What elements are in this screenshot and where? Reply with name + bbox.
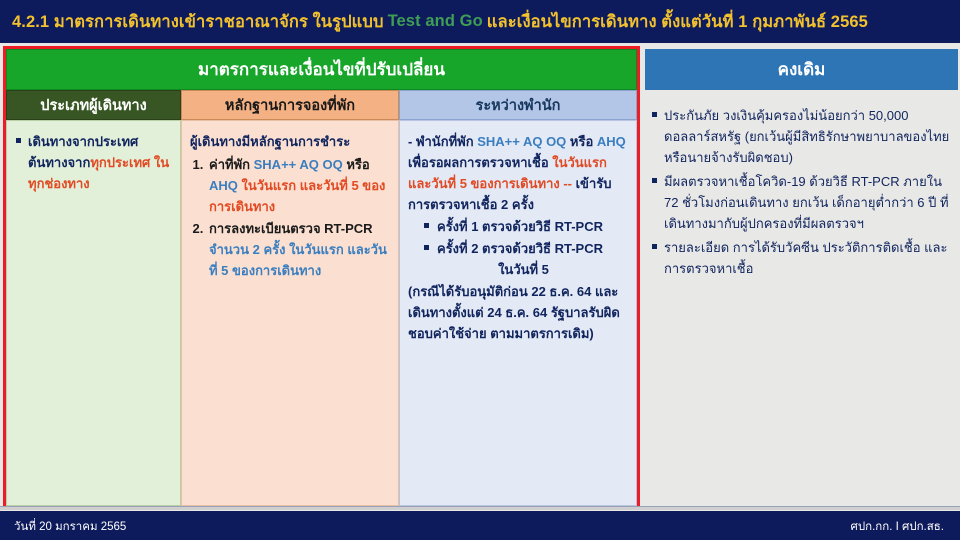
column-body-traveler-type: เดินทางจากประเทศ ต้นทางจากทุกประเทศ ในทุ… (6, 120, 181, 506)
during-stay-sub-list: ครั้งที่ 1 ตรวจด้วยวิธี RT-PCR ครั้งที่ … (408, 216, 628, 280)
unchanged-measures-body: ประกันภัย วงเงินคุ้มครองไม่น้อยกว่า 50,0… (645, 95, 958, 495)
list-item: การลงทะเบียนตรวจ RT-PCR จำนวน 2 ครั้ง ใน… (207, 218, 390, 281)
seg-rtpcr-registration: การลงทะเบียนตรวจ RT-PCR (209, 221, 373, 236)
seg-ahq: AHQ (209, 178, 242, 193)
seg-accommodation-cost: ค่าที่พัก (209, 157, 254, 172)
page-title-prefix: 4.2.1 มาตรการเดินทางเข้าราชอาณาจักร ในรู… (12, 9, 384, 35)
footer-divider (0, 506, 960, 510)
page-title-suffix: และเงื่อนไขการเดินทาง ตั้งแต่วันที่ 1 กุ… (487, 9, 868, 35)
seg-two-times: จำนวน 2 ครั้ง ในวันแรก และวันที่ 5 ของกา… (209, 242, 387, 278)
footer-source: ศปก.กก. I ศปก.สธ. (851, 518, 944, 536)
seg-sha-aq-oq: SHA++ AQ OQ (254, 157, 347, 172)
seg-or: หรือ (570, 134, 597, 149)
during-stay-note: (กรณีได้รับอนุมัติก่อน 22 ธ.ค. 64 และเดิ… (408, 281, 628, 344)
unchanged-measures-list: ประกันภัย วงเงินคุ้มครองไม่น้อยกว่า 50,0… (651, 105, 952, 279)
sub-bullet-2-note: ในวันที่ 5 (437, 259, 628, 280)
unchanged-measures-banner: คงเดิม (645, 49, 958, 90)
list-item: ประกันภัย วงเงินคุ้มครองไม่น้อยกว่า 50,0… (651, 105, 952, 168)
page-title-highlight: Test and Go (384, 12, 487, 31)
list-item: เดินทางจากประเทศ ต้นทางจากทุกประเทศ ในทุ… (15, 131, 172, 194)
traveler-type-list: เดินทางจากประเทศ ต้นทางจากทุกประเทศ ในทุ… (15, 131, 172, 194)
sub-bullet-2-text: ครั้งที่ 2 ตรวจด้วยวิธี RT-PCR (437, 241, 603, 256)
seg-ahq: AHQ (597, 134, 626, 149)
booking-proof-list: ค่าที่พัก SHA++ AQ OQ หรือ AHQ ในวันแรก … (190, 154, 390, 281)
footer-bar: วันที่ 20 มกราคม 2565 ศปก.กก. I ศปก.สธ. (0, 511, 960, 540)
list-item: ครั้งที่ 1 ตรวจด้วยวิธี RT-PCR (424, 216, 628, 237)
seg-origin: ต้นทางจาก (28, 155, 90, 170)
column-body-during-stay: - พำนักที่พัก SHA++ AQ OQ หรือ AHQ เพื่อ… (399, 120, 637, 506)
list-item: มีผลตรวจหาเชื้อโควิด-19 ด้วยวิธี RT-PCR … (651, 171, 952, 234)
list-item: รายละเอียด การได้รับวัคซีน ประวัติการติด… (651, 237, 952, 279)
seg-or: หรือ (346, 157, 369, 172)
column-body-booking-proof: ผู้เดินทางมีหลักฐานการชำระ ค่าที่พัก SHA… (181, 120, 399, 506)
column-header-traveler-type: ประเภทผู้เดินทาง (6, 90, 181, 120)
seg-await-result: เพื่อรอผลการตรวจหาเชื้อ (408, 155, 552, 170)
seg-stay-at: - พำนักที่พัก (408, 134, 477, 149)
list-item: ค่าที่พัก SHA++ AQ OQ หรือ AHQ ในวันแรก … (207, 154, 390, 217)
list-item: ครั้งที่ 2 ตรวจด้วยวิธี RT-PCR ในวันที่ … (424, 238, 628, 280)
footer-date: วันที่ 20 มกราคม 2565 (14, 518, 126, 536)
title-bar: 4.2.1 มาตรการเดินทางเข้าราชอาณาจักร ในรู… (0, 0, 960, 43)
during-stay-paragraph: - พำนักที่พัก SHA++ AQ OQ หรือ AHQ เพื่อ… (408, 131, 628, 215)
changed-measures-banner: มาตรการและเงื่อนไขที่ปรับเปลี่ยน (6, 49, 637, 90)
seg-travel-from: เดินทางจากประเทศ (28, 134, 138, 149)
booking-proof-lead: ผู้เดินทางมีหลักฐานการชำระ (190, 131, 390, 152)
column-header-during-stay: ระหว่างพำนัก (399, 90, 637, 120)
seg-all-countries: ทุกประเทศ (90, 155, 150, 170)
seg-sha-aq-oq: SHA++ AQ OQ (477, 134, 570, 149)
column-header-booking-proof: หลักฐานการจองที่พัก (181, 90, 399, 120)
